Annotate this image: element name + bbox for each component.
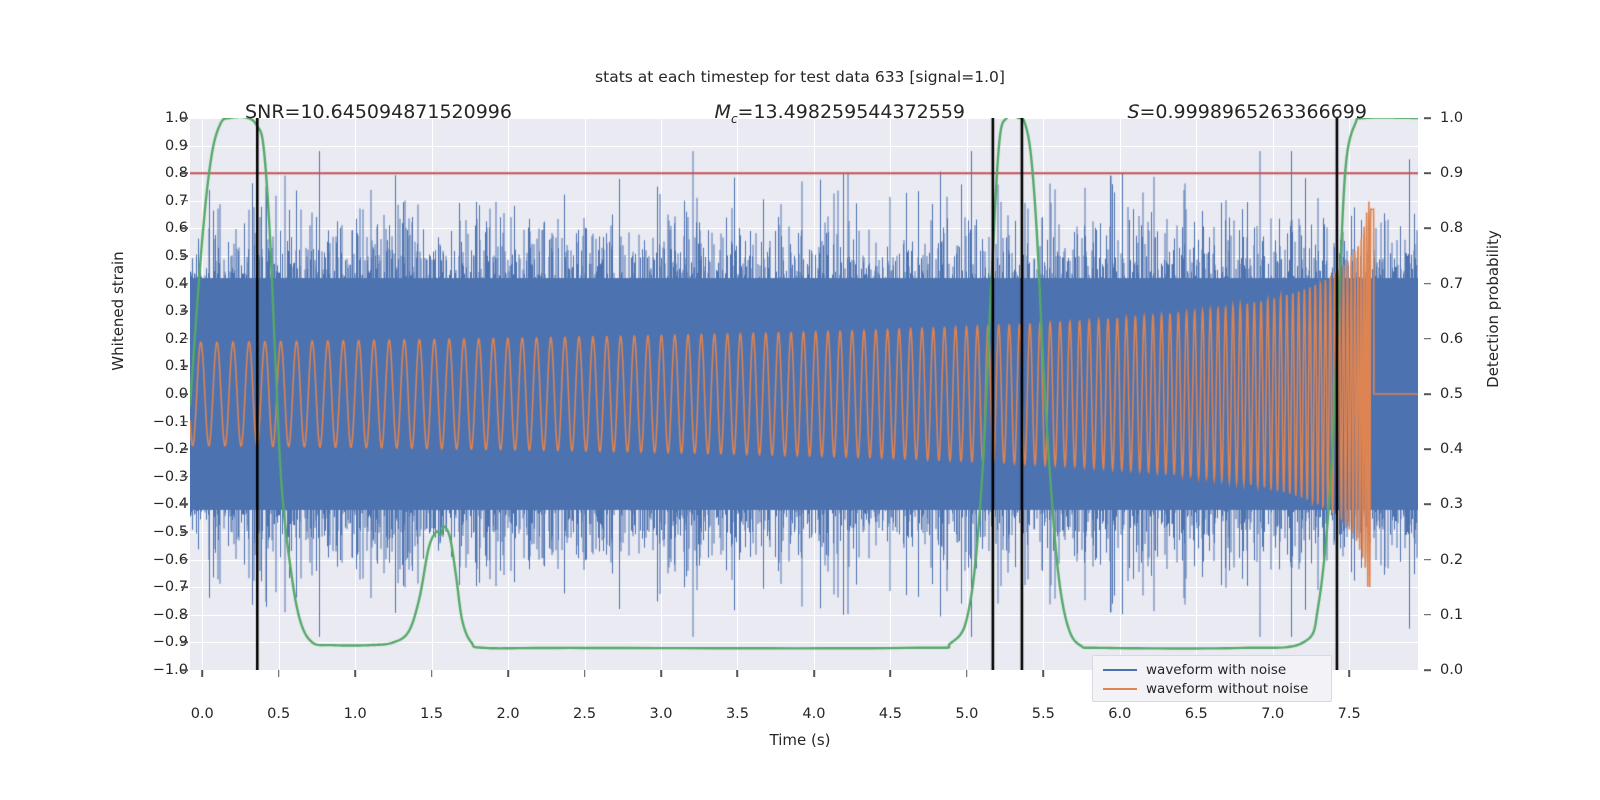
x-tick-mark: [813, 670, 815, 677]
plot-area: [190, 118, 1418, 670]
y-tick-mark-left: [181, 366, 188, 368]
y-tick-mark-right: [1424, 228, 1431, 230]
x-tick-label: 3.5: [726, 706, 749, 722]
x-tick-mark: [507, 670, 509, 677]
y-tick-mark-left: [181, 642, 188, 644]
y-tick-mark-left: [181, 145, 188, 147]
x-tick-mark: [584, 670, 586, 677]
y-axis-label-left: Whitened strain: [109, 201, 127, 421]
x-tick-mark: [737, 670, 739, 677]
x-tick-mark: [1348, 670, 1350, 677]
plot-canvas: [190, 118, 1418, 670]
y-tick-mark-right: [1424, 117, 1431, 119]
annotation-chirp-mass: Mc=13.498259544372559: [715, 101, 965, 126]
y-tick-mark-left: [181, 228, 188, 230]
x-tick-mark: [201, 670, 203, 677]
x-tick-label: 5.0: [955, 706, 978, 722]
y-tick-mark-left: [181, 117, 188, 119]
x-tick-label: 5.5: [1032, 706, 1055, 722]
y-tick-label-right: 0.5: [1440, 386, 1463, 402]
y-tick-mark-left: [181, 172, 188, 174]
y-tick-label-right: 0.8: [1440, 220, 1463, 236]
y-tick-mark-right: [1424, 669, 1431, 671]
y-tick-mark-right: [1424, 448, 1431, 450]
x-tick-label: 3.0: [649, 706, 672, 722]
y-tick-label-right: 0.4: [1440, 441, 1463, 457]
y-tick-mark-left: [181, 200, 188, 202]
legend: waveform with noisewaveform without nois…: [1092, 655, 1332, 702]
x-tick-mark: [278, 670, 280, 677]
x-tick-label: 6.5: [1185, 706, 1208, 722]
y-tick-mark-left: [181, 586, 188, 588]
x-tick-label: 2.5: [573, 706, 596, 722]
y-tick-mark-left: [181, 421, 188, 423]
y-tick-mark-left: [181, 614, 188, 616]
y-tick-mark-right: [1424, 338, 1431, 340]
y-tick-mark-right: [1424, 283, 1431, 285]
annotation-signal-score: S=0.9998965263366699: [1127, 101, 1367, 123]
x-tick-mark: [966, 670, 968, 677]
chart-title: stats at each timestep for test data 633…: [0, 68, 1600, 86]
x-axis-label: Time (s): [0, 731, 1600, 749]
x-tick-label: 1.0: [344, 706, 367, 722]
y-tick-label-right: 1.0: [1440, 110, 1463, 126]
y-axis-label-right: Detection probability: [1484, 194, 1502, 424]
y-tick-mark-left: [181, 504, 188, 506]
x-tick-label: 7.5: [1338, 706, 1361, 722]
y-tick-mark-left: [181, 255, 188, 257]
y-tick-mark-right: [1424, 614, 1431, 616]
y-tick-label-right: 0.6: [1440, 331, 1463, 347]
x-tick-label: 7.0: [1261, 706, 1284, 722]
x-tick-mark: [660, 670, 662, 677]
x-tick-label: 4.0: [802, 706, 825, 722]
legend-item: waveform with noise: [1099, 660, 1325, 679]
y-tick-label-right: 0.2: [1440, 552, 1463, 568]
annotation-snr: SNR=10.645094871520996: [245, 101, 512, 123]
legend-swatch-line-icon: [1103, 669, 1137, 671]
x-tick-label: 4.5: [879, 706, 902, 722]
y-tick-mark-right: [1424, 559, 1431, 561]
legend-item: waveform without noise: [1099, 679, 1325, 698]
x-tick-label: 2.0: [497, 706, 520, 722]
y-tick-mark-left: [181, 310, 188, 312]
y-tick-mark-left: [181, 393, 188, 395]
y-tick-label-right: 0.7: [1440, 276, 1463, 292]
legend-label: waveform without noise: [1146, 681, 1308, 697]
x-tick-mark: [431, 670, 433, 677]
x-tick-label: 0.0: [191, 706, 214, 722]
x-tick-mark: [354, 670, 356, 677]
figure: stats at each timestep for test data 633…: [0, 0, 1600, 800]
x-tick-label: 6.0: [1108, 706, 1131, 722]
y-tick-mark-left: [181, 531, 188, 533]
y-tick-mark-right: [1424, 504, 1431, 506]
x-tick-label: 0.5: [267, 706, 290, 722]
x-tick-mark: [1043, 670, 1045, 677]
y-tick-mark-left: [181, 476, 188, 478]
x-tick-label: 1.5: [420, 706, 443, 722]
y-tick-mark-left: [181, 559, 188, 561]
x-tick-mark: [890, 670, 892, 677]
y-tick-mark-right: [1424, 172, 1431, 174]
y-tick-label-right: 0.9: [1440, 165, 1463, 181]
y-tick-label-right: 0.0: [1440, 662, 1463, 678]
y-tick-mark-left: [181, 448, 188, 450]
y-tick-mark-left: [181, 283, 188, 285]
y-tick-label-right: 0.1: [1440, 607, 1463, 623]
y-tick-mark-left: [181, 338, 188, 340]
legend-label: waveform with noise: [1146, 662, 1286, 678]
y-tick-mark-left: [181, 669, 188, 671]
legend-swatch-line-icon: [1103, 688, 1137, 690]
y-tick-label-right: 0.3: [1440, 496, 1463, 512]
y-tick-mark-right: [1424, 393, 1431, 395]
